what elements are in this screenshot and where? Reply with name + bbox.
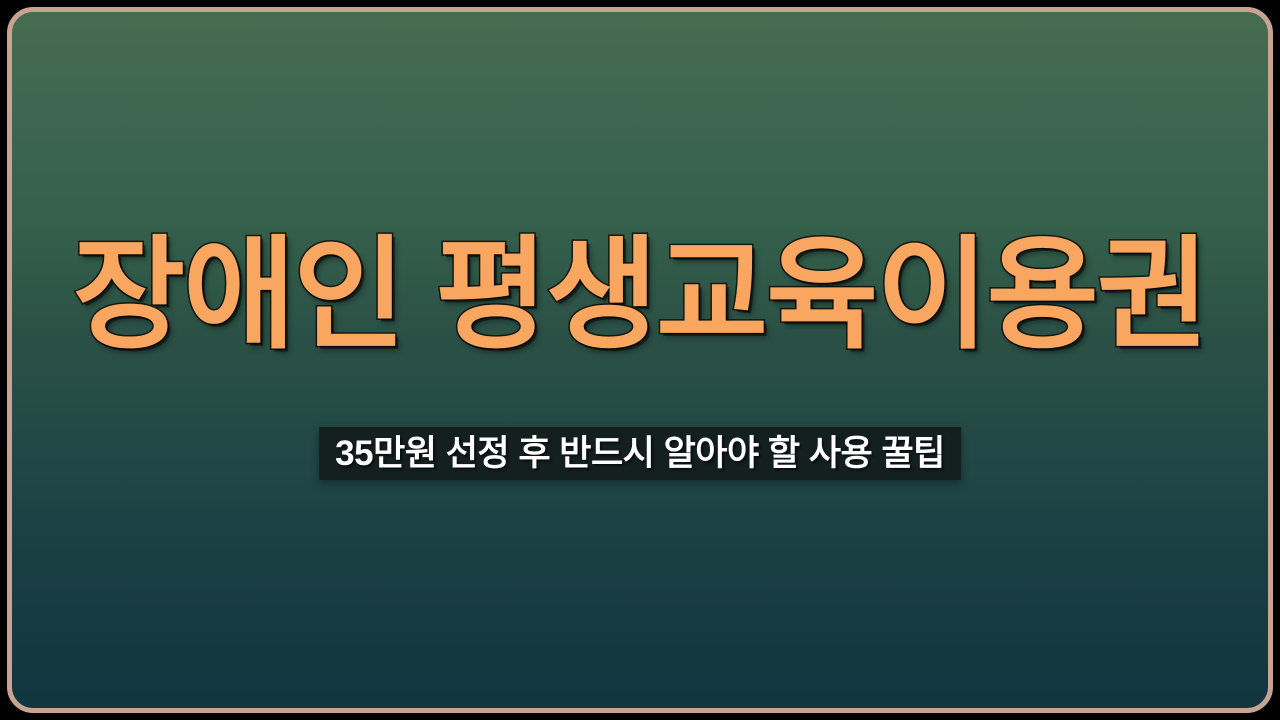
headline-container: 장애인 평생교육이용권	[12, 234, 1268, 356]
thumbnail-canvas: 장애인 평생교육이용권 35만원 선정 후 반드시 알아야 할 사용 꿀팁	[0, 0, 1280, 720]
subtitle-text: 35만원 선정 후 반드시 알아야 할 사용 꿀팁	[335, 436, 945, 471]
bordered-card-frame: 장애인 평생교육이용권 35만원 선정 후 반드시 알아야 할 사용 꿀팁	[7, 7, 1273, 713]
headline-title: 장애인 평생교육이용권	[73, 234, 1207, 356]
subtitle-band: 35만원 선정 후 반드시 알아야 할 사용 꿀팁	[319, 427, 961, 480]
